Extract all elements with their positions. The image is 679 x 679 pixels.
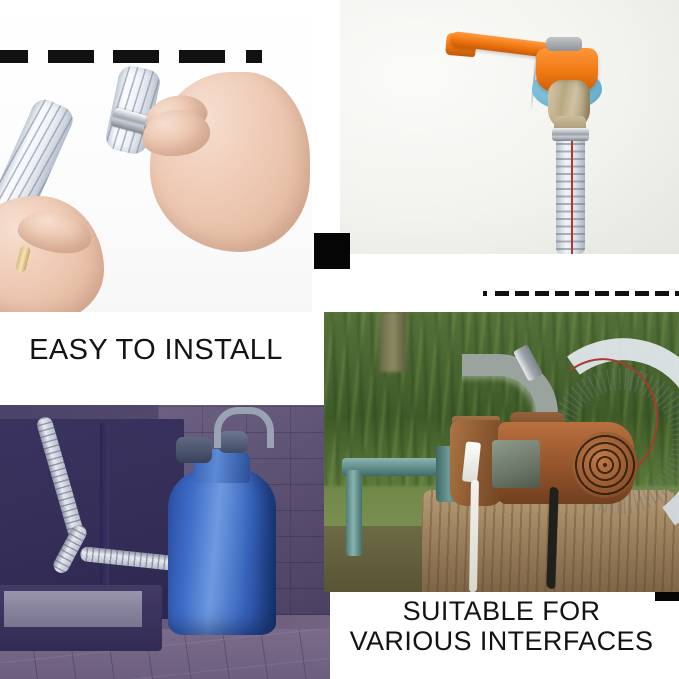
dash-segment [179, 50, 225, 63]
dash-segment [48, 50, 94, 63]
dash-segment [515, 291, 529, 296]
dashed-rule-middle-icon [483, 291, 679, 296]
dash-segment [113, 50, 159, 63]
dash-segment [495, 291, 509, 296]
dash-segment [635, 291, 649, 296]
caption-suitable-for-various-interfaces: SUITABLE FOR VARIOUS INTERFACES [324, 596, 679, 656]
dashed-rule-top-icon [0, 50, 262, 63]
dash-segment [595, 291, 609, 296]
dash-segment [535, 291, 549, 296]
hose-clamp-on-valve [552, 128, 589, 141]
panel-hands-installing-hose [0, 0, 312, 312]
dash-segment [555, 291, 569, 296]
dash-segment [615, 291, 629, 296]
lpg-cylinder-handle [214, 407, 274, 448]
black-bar-accent [655, 592, 679, 601]
panel-water-pump [324, 312, 679, 592]
dash-segment [0, 50, 28, 63]
cart-rail [100, 423, 109, 603]
panel-gas-cylinder [0, 405, 330, 679]
dash-segment [483, 291, 487, 296]
dash-segment [246, 50, 262, 63]
hose-red-stripe [571, 132, 573, 254]
lpg-cylinder-valve [176, 437, 212, 463]
dash-segment [575, 291, 589, 296]
capacitor-box [492, 440, 540, 488]
black-square-accent [314, 233, 350, 269]
lpg-cylinder-body [168, 467, 276, 635]
wooden-post [380, 312, 406, 372]
panel-orange-ball-valve [340, 0, 679, 254]
cart-tray [4, 591, 142, 627]
valve-stem-cap [546, 37, 582, 51]
inlet-riser-pipe [346, 470, 362, 556]
motor-fan-cover [572, 432, 638, 498]
product-infographic: EASY TO INSTALL [0, 0, 679, 679]
caption-easy-to-install: EASY TO INSTALL [0, 334, 312, 366]
dash-segment [675, 291, 679, 296]
dash-segment [655, 291, 669, 296]
